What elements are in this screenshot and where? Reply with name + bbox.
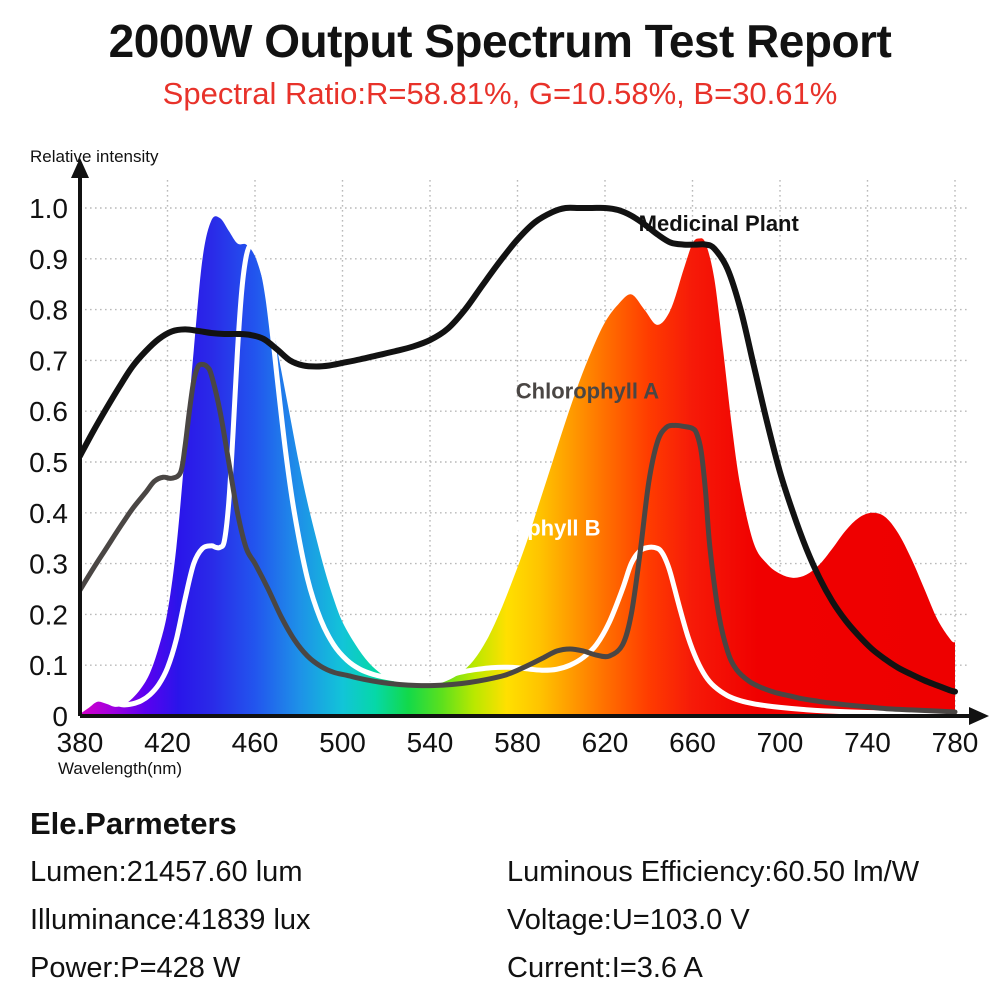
spectral-ratio-text: Spectral Ratio:R=58.81%, G=10.58%, B=30.… <box>0 76 1000 112</box>
y-tick-label: 0.9 <box>29 244 68 275</box>
curve-annotation: Chlorophyll A <box>516 379 660 404</box>
spectrum-chart: 00.10.20.30.40.50.60.70.80.91.0380420460… <box>0 140 1000 790</box>
spectrum-test-report: 2000W Output Spectrum Test Report Spectr… <box>0 0 1000 1000</box>
y-tick-label: 0.7 <box>29 345 68 376</box>
param-luminous-efficiency: Luminous Efficiency:60.50 lm/W <box>507 856 919 889</box>
x-tick-label: 620 <box>582 727 629 758</box>
y-tick-label: 0.1 <box>29 650 68 681</box>
param-power: Power:P=428 W <box>30 952 240 985</box>
page-title: 2000W Output Spectrum Test Report <box>0 14 1000 68</box>
y-tick-label: 1.0 <box>29 193 68 224</box>
param-lumen: Lumen:21457.60 lum <box>30 856 302 889</box>
y-tick-label: 0.3 <box>29 549 68 580</box>
x-tick-label: 540 <box>407 727 454 758</box>
x-tick-label: 700 <box>757 727 804 758</box>
param-illuminance: Illuminance:41839 lux <box>30 904 311 937</box>
x-axis-title: Wavelength(nm) <box>58 759 182 778</box>
x-tick-label: 780 <box>932 727 979 758</box>
x-tick-label: 500 <box>319 727 366 758</box>
y-tick-label: 0.6 <box>29 396 68 427</box>
curve-annotation: Medicinal Plant <box>639 211 800 236</box>
x-tick-label: 380 <box>57 727 104 758</box>
x-tick-label: 740 <box>844 727 891 758</box>
y-tick-label: 0.4 <box>29 498 68 529</box>
y-tick-label: 0.8 <box>29 295 68 326</box>
curve-annotation: Chlorophyll B <box>456 516 600 541</box>
x-tick-label: 660 <box>669 727 716 758</box>
y-tick-label: 0.5 <box>29 447 68 478</box>
param-voltage: Voltage:U=103.0 V <box>507 904 750 937</box>
parameters-section-title: Ele.Parmeters <box>30 806 237 842</box>
param-current: Current:I=3.6 A <box>507 952 703 985</box>
y-axis-title: Relative intensity <box>30 147 159 166</box>
x-tick-label: 460 <box>232 727 279 758</box>
x-tick-label: 420 <box>144 727 191 758</box>
spectrum-plot-svg: 00.10.20.30.40.50.60.70.80.91.0380420460… <box>0 140 1000 790</box>
x-tick-label: 580 <box>494 727 541 758</box>
y-tick-label: 0.2 <box>29 599 68 630</box>
